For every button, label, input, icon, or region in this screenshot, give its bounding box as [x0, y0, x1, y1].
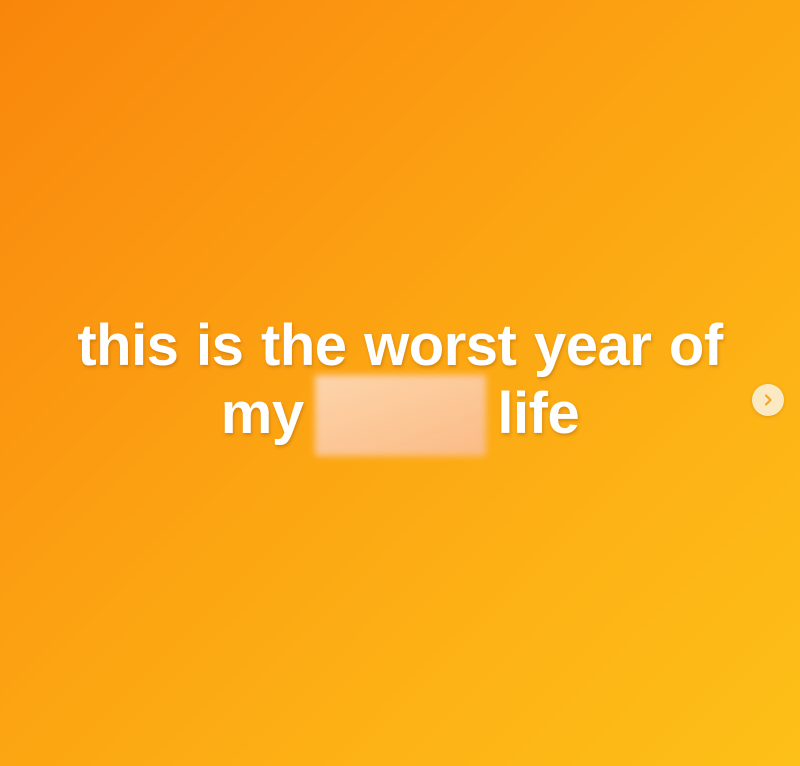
redacted-word-text	[321, 381, 480, 446]
story-caption: this is the worst year of my life	[0, 312, 800, 448]
caption-line-2: my life	[0, 380, 800, 448]
next-story-button[interactable]	[752, 384, 784, 416]
caption-line-2-prefix: my	[221, 381, 321, 446]
chevron-right-icon	[761, 393, 775, 407]
caption-line-1: this is the worst year of	[0, 312, 800, 380]
caption-line-2-suffix: life	[480, 381, 579, 446]
redacted-word	[321, 380, 480, 448]
story-screen: this is the worst year of my life	[0, 0, 800, 766]
